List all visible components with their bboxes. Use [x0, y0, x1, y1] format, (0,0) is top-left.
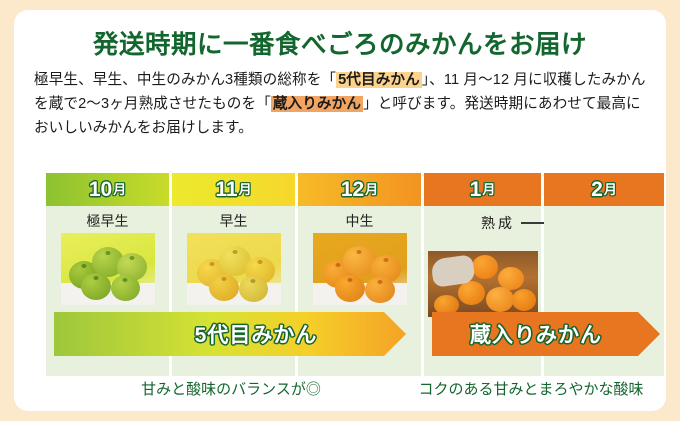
fruit	[486, 287, 514, 312]
fruit-stem	[105, 251, 110, 255]
banner-captions: 甘みと酸味のバランスが◎ コクのある甘みとまろやかな酸味	[46, 378, 664, 404]
fruit	[111, 275, 140, 301]
month-number: 1	[470, 179, 482, 200]
banner-label: 5代目みかん	[195, 319, 318, 349]
fruit	[472, 255, 498, 279]
fruit	[458, 281, 485, 305]
photo-wase-mikan	[187, 233, 281, 305]
fruit-stem	[383, 258, 388, 262]
banner-godaime-mikan: 5代目みかん	[54, 312, 406, 356]
month-number: 11	[215, 179, 237, 200]
stage-label-wase: 早生	[172, 211, 295, 231]
month-header-october: 10月	[46, 173, 169, 206]
month-unit: 月	[239, 183, 252, 196]
photo-aging-storage	[428, 251, 538, 317]
highlight-kurairi: 蔵入りみかん	[271, 96, 363, 112]
fruit-stem	[232, 250, 237, 254]
photo-nakate-mikan	[313, 233, 407, 305]
page-title: 発送時期に一番食べごろのみかんをお届け	[14, 24, 666, 61]
fruit-stem	[335, 263, 340, 267]
product-banners: 5代目みかん 蔵入りみかん	[46, 312, 664, 356]
month-header-january: 1月	[424, 173, 541, 206]
month-header-november: 11月	[172, 173, 295, 206]
content-card: 発送時期に一番食べごろのみかんをお届け 極早生、早生、中生のみかん3種類の総称を…	[14, 10, 666, 411]
fruit-stem	[123, 278, 128, 282]
timeline-panel: 10月 極早生 11月	[46, 173, 664, 376]
banner-kurairi-mikan: 蔵入りみかん	[432, 312, 660, 356]
caption-kurairi: コクのある甘みとまろやかな酸味	[398, 378, 664, 399]
fruit-stem	[221, 277, 226, 281]
fruit-stem	[129, 256, 134, 260]
description-part-1: 極早生、早生、中生のみかん3種類の総称を「	[34, 72, 336, 88]
photo-gokuwase-mikan	[61, 233, 155, 305]
month-number: 10	[89, 179, 112, 200]
month-header-december: 12月	[298, 173, 421, 206]
month-unit: 月	[482, 183, 495, 196]
fruit-stem	[251, 279, 256, 283]
infographic-page: 発送時期に一番食べごろのみかんをお届け 極早生、早生、中生のみかん3種類の総称を…	[0, 0, 680, 421]
fruit-stem	[257, 260, 262, 264]
aging-label: 熟成	[481, 213, 515, 233]
fruit	[335, 275, 365, 302]
fruit-stem	[357, 250, 362, 254]
stage-label-gokuwase: 極早生	[46, 211, 169, 231]
fruit	[81, 273, 111, 300]
fruit	[512, 289, 536, 311]
stage-label-nakate: 中生	[298, 211, 421, 231]
month-unit: 月	[604, 183, 617, 196]
month-number: 12	[341, 179, 364, 200]
fruit-stem	[209, 262, 214, 266]
fruit-stem	[81, 264, 86, 268]
fruit-stem	[347, 278, 352, 282]
fruit	[365, 277, 395, 303]
highlight-godaime: 5代目みかん	[336, 72, 422, 88]
fruit-stem	[377, 280, 382, 284]
fruit	[239, 276, 268, 302]
month-unit: 月	[113, 183, 126, 196]
month-number: 2	[591, 179, 603, 200]
fruit-stem	[93, 276, 98, 280]
month-unit: 月	[365, 183, 378, 196]
month-header-february: 2月	[544, 173, 664, 206]
banner-label: 蔵入りみかん	[470, 319, 602, 349]
fruit	[209, 274, 239, 301]
caption-godaime: 甘みと酸味のバランスが◎	[46, 378, 416, 399]
description-paragraph: 極早生、早生、中生のみかん3種類の総称を「5代目みかん」、11 月～12 月に収…	[34, 68, 650, 140]
